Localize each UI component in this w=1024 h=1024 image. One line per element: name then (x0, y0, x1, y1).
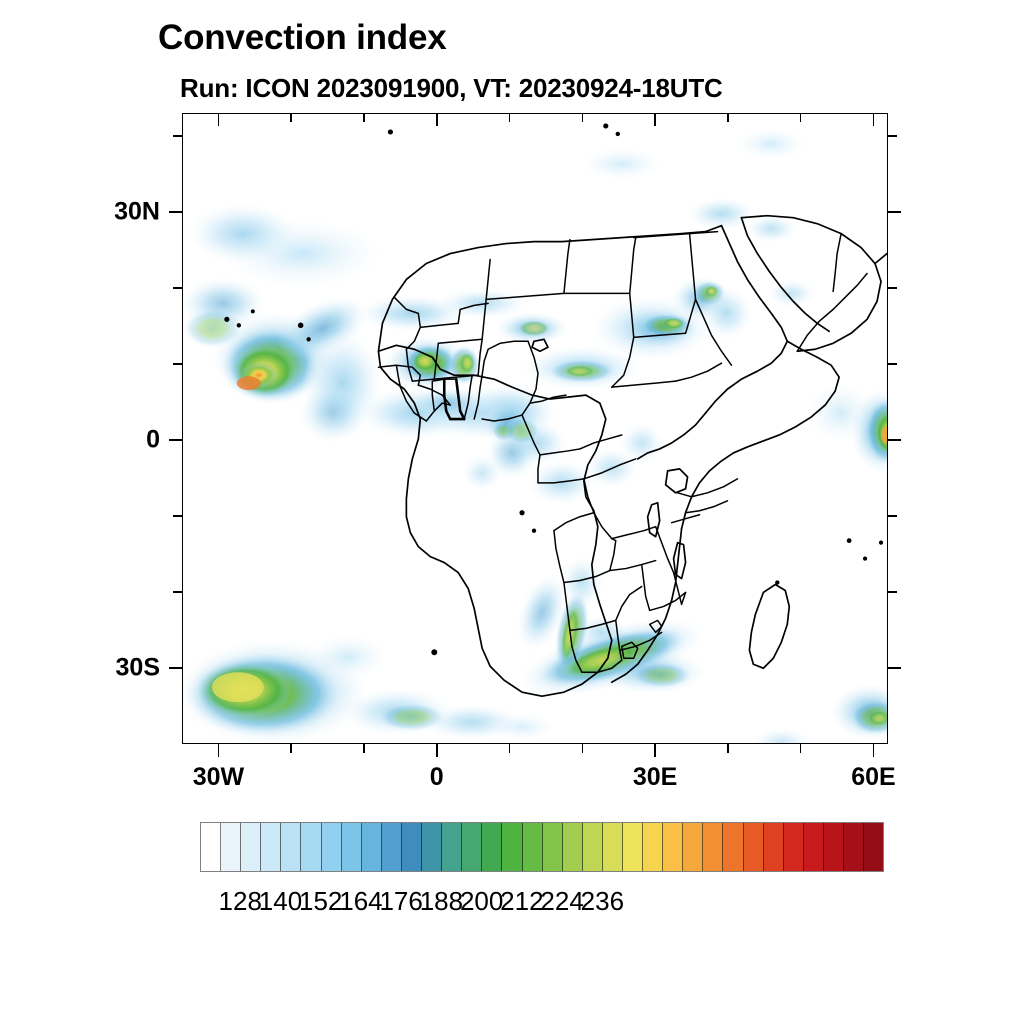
page-title: Convection index (158, 18, 447, 58)
colorbar-cell[interactable] (723, 823, 743, 871)
colorbar-cell[interactable] (784, 823, 804, 871)
x-tick (582, 744, 584, 753)
y-tick-right (888, 135, 897, 137)
y-tick (173, 515, 182, 517)
colorbar-tick-label: 164 (339, 886, 382, 917)
colorbar-cell[interactable] (603, 823, 623, 871)
y-tick-right (888, 363, 897, 365)
y-tick (169, 439, 182, 441)
y-axis-label: 30S (116, 653, 160, 682)
x-tick-top (727, 113, 729, 122)
x-tick-top (873, 113, 875, 126)
colorbar-cell[interactable] (623, 823, 643, 871)
colorbar-cell[interactable] (362, 823, 382, 871)
x-axis-label: 30W (193, 763, 244, 792)
x-tick (873, 744, 875, 757)
x-tick (727, 744, 729, 753)
x-tick-top (582, 113, 584, 122)
page-subtitle: Run: ICON 2023091900, VT: 20230924-18UTC (180, 73, 723, 104)
x-axis-label: 30E (633, 763, 677, 792)
y-tick-right (888, 667, 901, 669)
colorbar-cell[interactable] (261, 823, 281, 871)
colorbar[interactable] (200, 822, 884, 872)
x-tick-top (654, 113, 656, 126)
colorbar-cell[interactable] (462, 823, 482, 871)
y-axis-label: 30N (114, 197, 160, 226)
x-tick-top (218, 113, 220, 126)
colorbar-cell[interactable] (502, 823, 522, 871)
colorbar-tick-label: 176 (379, 886, 422, 917)
x-axis-label: 0 (430, 763, 444, 792)
x-tick-top (800, 113, 802, 122)
colorbar-cell[interactable] (221, 823, 241, 871)
colorbar-cell[interactable] (824, 823, 844, 871)
x-tick (800, 744, 802, 753)
colorbar-cell[interactable] (301, 823, 321, 871)
colorbar-cell[interactable] (643, 823, 663, 871)
colorbar-cell[interactable] (864, 823, 883, 871)
y-tick-right (888, 439, 901, 441)
colorbar-cell[interactable] (281, 823, 301, 871)
y-tick (169, 667, 182, 669)
colorbar-cell[interactable] (764, 823, 784, 871)
y-tick (173, 135, 182, 137)
colorbar-tick-label: 200 (460, 886, 503, 917)
colorbar-cell[interactable] (744, 823, 764, 871)
convection-index-map (183, 114, 887, 743)
figure-root: Convection index Run: ICON 2023091900, V… (0, 0, 1024, 1024)
colorbar-tick-label: 188 (420, 886, 463, 917)
colorbar-tick-label: 224 (540, 886, 583, 917)
colorbar-cell[interactable] (804, 823, 824, 871)
colorbar-tick-label: 140 (259, 886, 302, 917)
y-axis-label: 0 (146, 425, 160, 454)
colorbar-cell[interactable] (703, 823, 723, 871)
y-tick-right (888, 211, 901, 213)
colorbar-cell[interactable] (543, 823, 563, 871)
x-tick (363, 744, 365, 753)
y-tick-right (888, 591, 897, 593)
x-tick (290, 744, 292, 753)
x-axis-label: 60E (851, 763, 895, 792)
colorbar-cell[interactable] (683, 823, 703, 871)
x-tick-top (290, 113, 292, 122)
colorbar-cell[interactable] (322, 823, 342, 871)
y-tick (173, 591, 182, 593)
y-tick (169, 211, 182, 213)
y-tick-right (888, 515, 897, 517)
colorbar-cell[interactable] (442, 823, 462, 871)
colorbar-tick-label: 236 (581, 886, 624, 917)
colorbar-cell[interactable] (201, 823, 221, 871)
x-tick-top (363, 113, 365, 122)
colorbar-cell[interactable] (382, 823, 402, 871)
x-tick (509, 744, 511, 753)
y-tick (173, 287, 182, 289)
colorbar-tick-label: 128 (219, 886, 262, 917)
colorbar-cell[interactable] (342, 823, 362, 871)
colorbar-cell[interactable] (402, 823, 422, 871)
colorbar-tick-label: 152 (299, 886, 342, 917)
x-tick-top (436, 113, 438, 126)
colorbar-cell[interactable] (482, 823, 502, 871)
map-plot-area (182, 113, 888, 744)
x-tick (654, 744, 656, 757)
x-tick (218, 744, 220, 757)
colorbar-cell[interactable] (241, 823, 261, 871)
convection-field (183, 128, 887, 743)
colorbar-cell[interactable] (422, 823, 442, 871)
colorbar-cell[interactable] (663, 823, 683, 871)
colorbar-cell[interactable] (583, 823, 603, 871)
y-tick-right (888, 287, 897, 289)
colorbar-cell[interactable] (523, 823, 543, 871)
x-tick-top (509, 113, 511, 122)
colorbar-tick-label: 212 (500, 886, 543, 917)
y-tick (173, 363, 182, 365)
colorbar-cell[interactable] (563, 823, 583, 871)
colorbar-cell[interactable] (844, 823, 864, 871)
x-tick (436, 744, 438, 757)
